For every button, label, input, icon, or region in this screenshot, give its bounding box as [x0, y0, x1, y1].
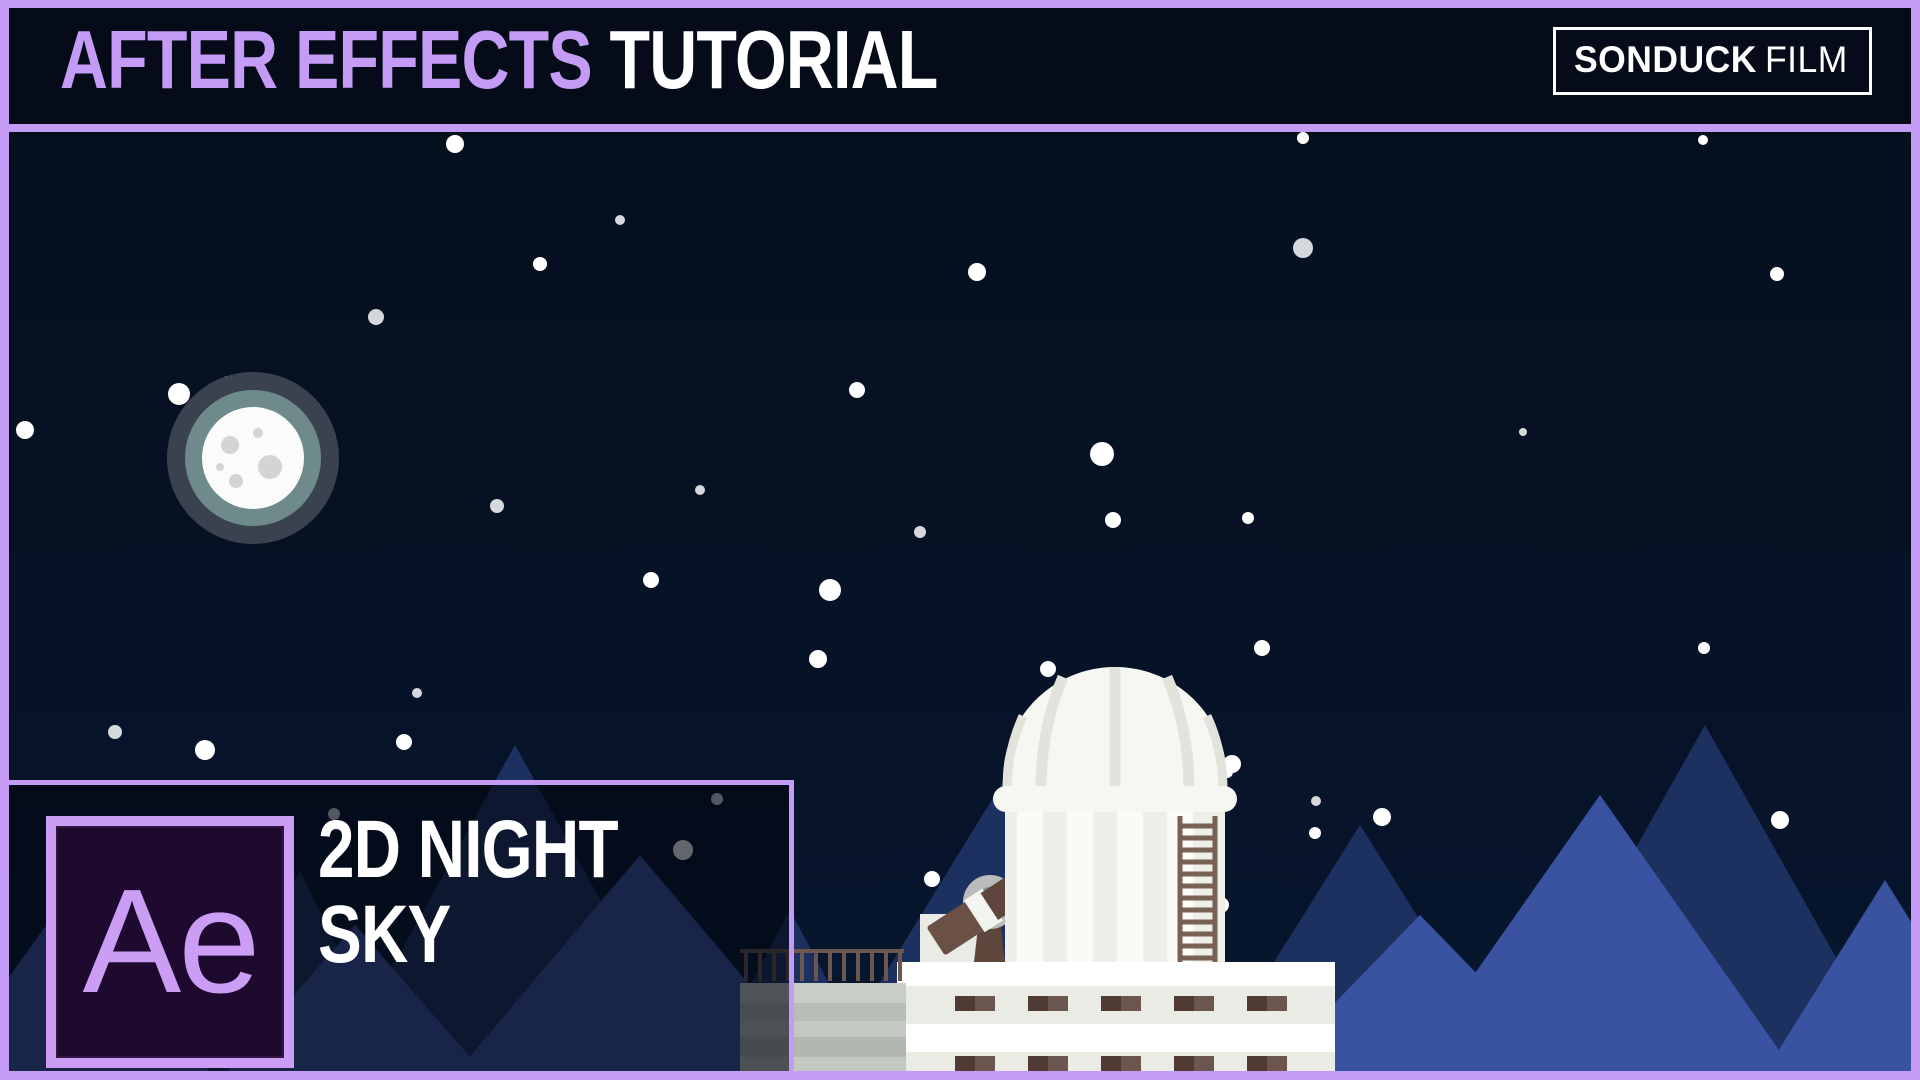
brand-logo[interactable]: SONDUCKFILM [1553, 27, 1872, 95]
star [1293, 238, 1313, 258]
topic-title: 2D NIGHT SKY [318, 807, 618, 977]
star [819, 579, 841, 601]
dome-base-ring [993, 786, 1237, 812]
moon [167, 372, 339, 544]
star [914, 526, 926, 538]
star [490, 499, 504, 513]
star [643, 572, 659, 588]
moon-crater [258, 455, 282, 479]
header-bar: AFTER EFFECTS TUTORIAL SONDUCKFILM [0, 0, 1920, 124]
brand-name-primary: SONDUCK [1574, 39, 1757, 81]
star [615, 215, 625, 225]
frame-border-right [1911, 0, 1920, 1080]
brand-name-secondary: FILM [1765, 39, 1848, 81]
topic-title-line-1: 2D NIGHT [318, 807, 618, 892]
star [1698, 135, 1708, 145]
moon-crater [229, 474, 243, 488]
thumbnail-canvas: AFTER EFFECTS TUTORIAL SONDUCKFILM Ae 2D… [0, 0, 1920, 1080]
star [16, 421, 34, 439]
star [1105, 512, 1121, 528]
star [1242, 512, 1254, 524]
star [968, 263, 986, 281]
after-effects-app-icon[interactable]: Ae [46, 816, 294, 1068]
moon-crater [216, 463, 224, 471]
observatory-building [895, 594, 1355, 1080]
header-divider-line [0, 124, 1920, 132]
title-rest: TUTORIAL [610, 13, 938, 106]
app-icon-label: Ae [82, 868, 257, 1016]
topic-label-box: Ae 2D NIGHT SKY [0, 780, 794, 1080]
title-highlight: AFTER EFFECTS [60, 13, 592, 106]
frame-border-top [0, 0, 1920, 8]
star [1297, 132, 1309, 144]
moon-crater [221, 436, 239, 454]
star [368, 309, 384, 325]
star [1090, 442, 1114, 466]
after-effects-app-icon-inner: Ae [56, 826, 284, 1058]
topic-title-line-2: SKY [318, 892, 618, 977]
star [533, 257, 547, 271]
frame-border-left [0, 0, 9, 1080]
observatory-dome [1003, 667, 1227, 794]
page-title: AFTER EFFECTS TUTORIAL [60, 17, 938, 103]
observatory-base [897, 962, 1335, 1080]
star [446, 135, 464, 153]
star [849, 382, 865, 398]
moon-crater [253, 428, 263, 438]
star [1519, 428, 1527, 436]
frame-border-bottom [0, 1071, 1920, 1080]
moon-surface [202, 407, 304, 509]
star [695, 485, 705, 495]
star [1770, 267, 1784, 281]
